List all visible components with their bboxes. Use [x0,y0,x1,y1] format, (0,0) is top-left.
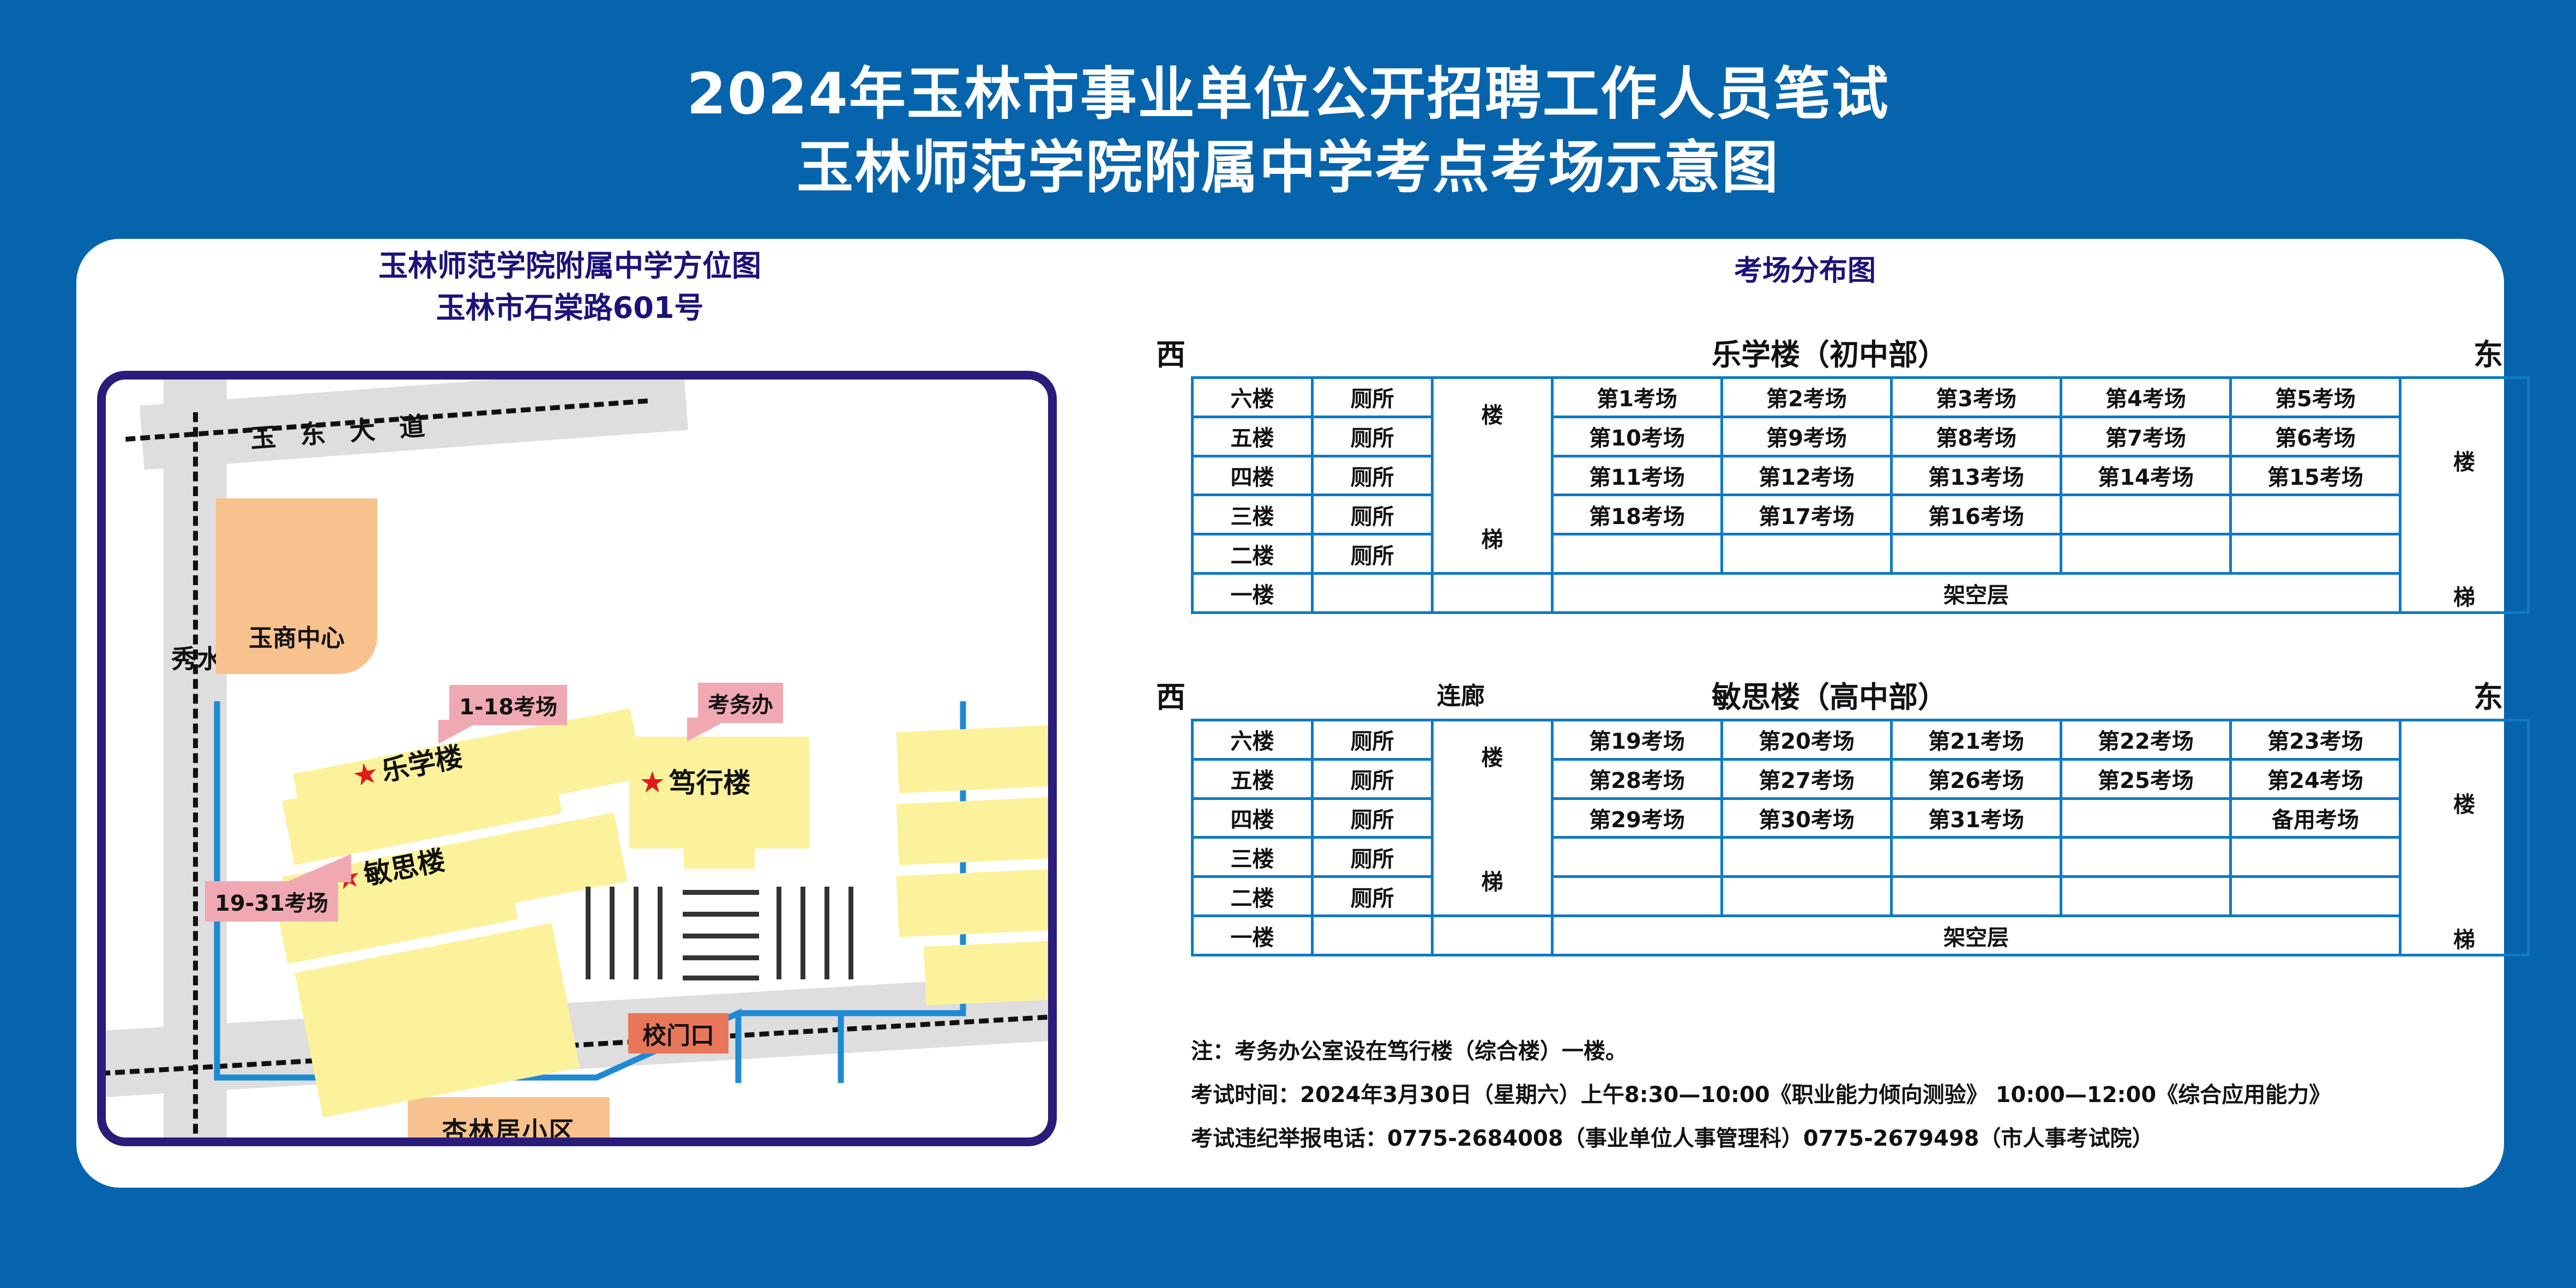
road-label-xiushui: 秀水北路 [171,640,202,679]
room-cell [1552,838,1722,877]
room-cell: 第18考场 [1552,495,1722,534]
room-cell: 第2考场 [1722,378,1892,417]
floor-cell: 二楼 [1193,877,1313,916]
stair-left-spacer-b [1433,916,1552,955]
floor-cell: 六楼 [1193,720,1313,760]
distribution-title: 考场分布图 [1145,248,2465,288]
stair-left-top-a: 楼 [1434,398,1551,429]
building-block-east-4 [924,936,1057,1006]
building-b-table: 六楼 厕所 楼 梯 第19考场 第20考场 第21考场 第22考场 第23考场 … [1191,719,2530,956]
footnote-exam-time: 考试时间：2024年3月30日（星期六）上午8:30—10:00《职业能力倾向测… [1191,1073,2511,1117]
floor-cell: 三楼 [1193,495,1313,534]
room-cell: 第20考场 [1722,720,1892,760]
footnote-report-phone: 考试违纪举报电话：0775-2684008（事业单位人事管理科）0775-267… [1191,1117,2511,1160]
map-heading: 玉林师范学院附属中学方位图 玉林市石棠路601号 [76,245,1063,329]
page-title: 2024年玉林市事业单位公开招聘工作人员笔试 玉林师范学院附属中学考点考场示意图 [0,57,2576,204]
room-cell: 第4考场 [2061,378,2231,417]
floor-cell: 四楼 [1193,456,1313,495]
building-a-table: 六楼 厕所 楼 梯 第1考场 第2考场 第3考场 第4考场 第5考场 楼 梯 [1191,376,2530,614]
room-cell [2061,495,2231,534]
room-cell [1722,877,1892,916]
map-frame: 玉 东 大 道 石 棠 路 秀水北路 玉商中心 杏林居小区 [97,371,1057,1146]
corridor-label: 连廊 [1437,676,1485,711]
floor-cell: 一楼 [1193,574,1313,613]
callout-exam-office: 考务办 [698,683,783,723]
road-dash-xiushui [193,412,198,1146]
table-row: 二楼 厕所 [1193,877,2529,916]
room-cell [1892,877,2061,916]
room-cell: 第13考场 [1892,456,2061,495]
page-title-line1: 2024年玉林市事业单位公开招聘工作人员笔试 [0,57,2576,131]
room-cell [2061,534,2231,574]
room-cell: 第5考场 [2231,378,2400,417]
stair-left-top-b: 楼 [1434,740,1551,772]
room-cell: 第27考场 [1722,759,1892,798]
room-cell: 第22考场 [2061,720,2231,760]
room-cell: 第21考场 [1892,720,2061,760]
open-floor-cell: 架空层 [1552,916,2400,955]
table-row: 五楼 厕所 第28考场 第27考场 第26考场 第25考场 第24考场 [1193,759,2529,798]
map-heading-line1: 玉林师范学院附属中学方位图 [76,245,1063,287]
table-row: 一楼 架空层 [1193,574,2529,613]
stair-left-cell-b: 楼 梯 [1433,720,1552,916]
room-cell [2061,798,2231,838]
table-row: 三楼 厕所 第18考场 第17考场 第16考场 [1193,495,2529,534]
room-cell: 第1考场 [1552,378,1722,417]
west-label-b: 西 [1156,673,1292,716]
place-xinglin-community: 杏林居小区 [408,1097,610,1146]
wc-cell [1313,916,1433,955]
wc-cell: 厕所 [1313,495,1433,534]
room-cell: 第6考场 [2231,417,2400,456]
room-cell: 第9考场 [1722,417,1892,456]
wc-cell: 厕所 [1313,534,1433,574]
room-cell: 第25考场 [2061,759,2231,798]
stair-right-top-a: 楼 [2402,444,2527,476]
floor-cell: 三楼 [1193,838,1313,877]
wc-cell: 厕所 [1313,838,1433,877]
wc-cell: 厕所 [1313,456,1433,495]
room-cell: 第3考场 [1892,378,2061,417]
stair-left-spacer-a [1433,574,1552,613]
wc-cell: 厕所 [1313,720,1433,760]
building-block-duxing-tab [684,840,755,869]
room-cell: 第14考场 [2061,456,2231,495]
room-cell: 第8考场 [1892,417,2061,456]
west-label-a: 西 [1156,330,1292,374]
room-cell: 第28考场 [1552,759,1722,798]
footnote-office: 注：考务办公室设在笃行楼（综合楼）一楼。 [1191,1030,2511,1073]
wc-cell [1313,574,1433,613]
building-block-east-3 [896,864,1057,937]
building-label-duxing-text: 笃行楼 [669,767,750,799]
map-heading-line2: 玉林市石棠路601号 [76,287,1063,329]
building-block-east-1 [896,720,1057,793]
room-cell [2061,838,2231,877]
room-distribution-panel: 考场分布图 西 乐学楼（初中部） 东 六楼 厕所 楼 梯 第1考场 第2考场 第… [1145,239,2504,1188]
east-label-b: 东 [2367,673,2503,716]
wc-cell: 厕所 [1313,798,1433,838]
room-cell [2231,534,2400,574]
building-label-duxing: ★笃行楼 [639,761,750,801]
stair-right-top-b: 楼 [2402,787,2527,818]
room-cell [2231,877,2400,916]
callout-rooms-19-31: 19-31考场 [205,881,338,922]
stair-left-cell-a: 楼 梯 [1433,378,1552,574]
room-cell [1552,534,1722,574]
room-cell: 第29考场 [1552,798,1722,838]
room-cell: 第31考场 [1892,798,2061,838]
table-row: 一楼 架空层 [1193,916,2529,955]
stair-right-bottom-a: 梯 [2402,580,2527,611]
open-floor-cell: 架空层 [1552,574,2400,613]
room-cell [2061,877,2231,916]
room-cell: 第30考场 [1722,798,1892,838]
stair-left-bottom-b: 梯 [1434,864,1551,896]
star-icon-duxing: ★ [639,765,665,799]
wc-cell: 厕所 [1313,877,1433,916]
room-cell: 第26考场 [1892,759,2061,798]
stair-left-bottom-a: 梯 [1434,522,1551,553]
table-row: 四楼 厕所 第29考场 第30考场 第31考场 备用考场 [1193,798,2529,838]
room-cell: 第24考场 [2231,759,2400,798]
floor-cell: 六楼 [1193,378,1313,417]
room-cell: 第17考场 [1722,495,1892,534]
stair-right-bottom-b: 梯 [2402,922,2527,954]
table-row: 三楼 厕所 [1193,838,2529,877]
sports-field [586,887,869,979]
room-cell [2231,495,2400,534]
footnotes: 注：考务办公室设在笃行楼（综合楼）一楼。 考试时间：2024年3月30日（星期六… [1191,1030,2511,1160]
room-cell [1892,534,2061,574]
floor-cell: 四楼 [1193,798,1313,838]
callout-rooms-1-18: 1-18考场 [449,685,567,725]
callout-tail-rooms-19-31 [286,854,351,882]
table-row: 四楼 厕所 第11考场 第12考场 第13考场 第14考场 第15考场 [1193,456,2529,495]
room-cell [2231,838,2400,877]
east-label-a: 东 [2367,330,2503,374]
floor-cell: 一楼 [1193,916,1313,955]
table-row: 六楼 厕所 楼 梯 第19考场 第20考场 第21考场 第22考场 第23考场 … [1193,720,2529,760]
stair-right-cell-a: 楼 梯 [2400,378,2529,613]
stair-right-cell-b: 楼 梯 [2400,720,2529,955]
place-yushang-center: 玉商中心 [216,498,377,674]
table-row: 五楼 厕所 第10考场 第9考场 第8考场 第7考场 第6考场 [1193,417,2529,456]
room-cell: 第7考场 [2061,417,2231,456]
room-cell: 第12考场 [1722,456,1892,495]
floor-cell: 五楼 [1193,759,1313,798]
room-cell: 备用考场 [2231,798,2400,838]
room-cell: 第11考场 [1552,456,1722,495]
building-block-east-2 [896,792,1057,865]
wc-cell: 厕所 [1313,378,1433,417]
room-cell: 第19考场 [1552,720,1722,760]
page-title-line2: 玉林师范学院附属中学考点考场示意图 [0,131,2576,204]
table-row: 六楼 厕所 楼 梯 第1考场 第2考场 第3考场 第4考场 第5考场 楼 梯 [1193,378,2529,417]
floor-cell: 五楼 [1193,417,1313,456]
room-cell: 第23考场 [2231,720,2400,760]
room-cell: 第10考场 [1552,417,1722,456]
room-cell: 第16考场 [1892,495,2061,534]
room-cell: 第15考场 [2231,456,2400,495]
room-cell [1892,838,2061,877]
content-card: 玉林师范学院附属中学方位图 玉林市石棠路601号 玉 东 大 道 石 棠 路 秀… [76,239,2504,1188]
table-row: 二楼 厕所 [1193,534,2529,574]
room-cell [1722,534,1892,574]
floor-cell: 二楼 [1193,534,1313,574]
room-cell [1552,877,1722,916]
room-cell [1722,838,1892,877]
building-a-header: 西 乐学楼（初中部） 东 [1156,330,2503,374]
building-b-header: 西 敏思楼（高中部） 东 [1156,673,2503,716]
location-map-panel: 玉林师范学院附属中学方位图 玉林市石棠路601号 玉 东 大 道 石 棠 路 秀… [76,239,1145,1188]
building-a-name: 乐学楼（初中部） [1292,330,2367,374]
wc-cell: 厕所 [1313,417,1433,456]
wc-cell: 厕所 [1313,759,1433,798]
school-gate-label: 校门口 [628,1013,729,1054]
